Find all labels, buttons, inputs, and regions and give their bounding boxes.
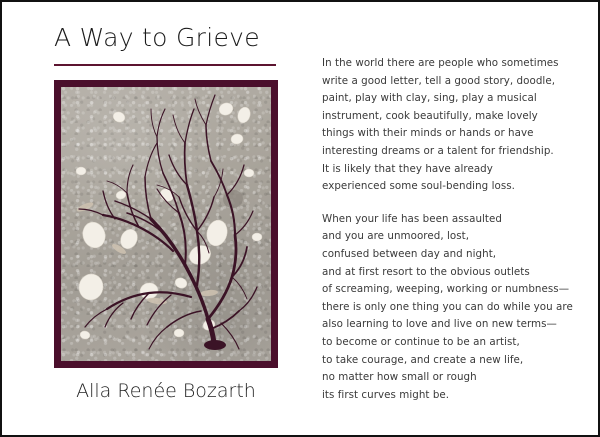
poem-body: In the world there are people who someti… xyxy=(322,55,574,404)
title-divider xyxy=(54,64,276,66)
poem-line: instrument, cook beautifully, make lovel… xyxy=(322,108,574,126)
poem-line: of screaming, weeping, working or numbne… xyxy=(322,281,574,299)
poem-line: write a good letter, tell a good story, … xyxy=(322,73,574,91)
stanza: When your life has been assaulted and yo… xyxy=(322,211,574,405)
poem-line: confused between day and night, xyxy=(322,246,574,264)
stanza: In the world there are people who someti… xyxy=(322,55,574,196)
poem-line: and at first resort to the obvious outle… xyxy=(322,264,574,282)
poem-line: also learning to love and live on new te… xyxy=(322,316,574,334)
poem-line: no matter how small or rough xyxy=(322,369,574,387)
poem-line: to take courage, and create a new life, xyxy=(322,352,574,370)
poem-line: its first curves might be. xyxy=(322,387,574,405)
poem-line: there is only one thing you can do while… xyxy=(322,299,574,317)
poem-line: When your life has been assaulted xyxy=(322,211,574,229)
poem-line: interesting dreams or a talent for frien… xyxy=(322,143,574,161)
poem-line: experienced some soul-bending loss. xyxy=(322,178,574,196)
photograph xyxy=(61,87,271,361)
page-title: A Way to Grieve xyxy=(54,24,278,53)
poem-card-page: A Way to Grieve xyxy=(0,0,600,437)
poem-line: paint, play with clay, sing, play a musi… xyxy=(322,90,574,108)
author-name: Alla Renée Bozarth xyxy=(54,380,278,402)
title-block: A Way to Grieve xyxy=(54,24,278,66)
sea-fan-branch xyxy=(61,87,271,361)
poem-line: things with their minds or hands or have xyxy=(322,125,574,143)
photo-frame xyxy=(54,80,278,368)
poem-line: In the world there are people who someti… xyxy=(322,55,574,73)
poem-line: and you are unmoored, lost, xyxy=(322,228,574,246)
poem-line: to become or continue to be an artist, xyxy=(322,334,574,352)
poem-line: It is likely that they have already xyxy=(322,161,574,179)
